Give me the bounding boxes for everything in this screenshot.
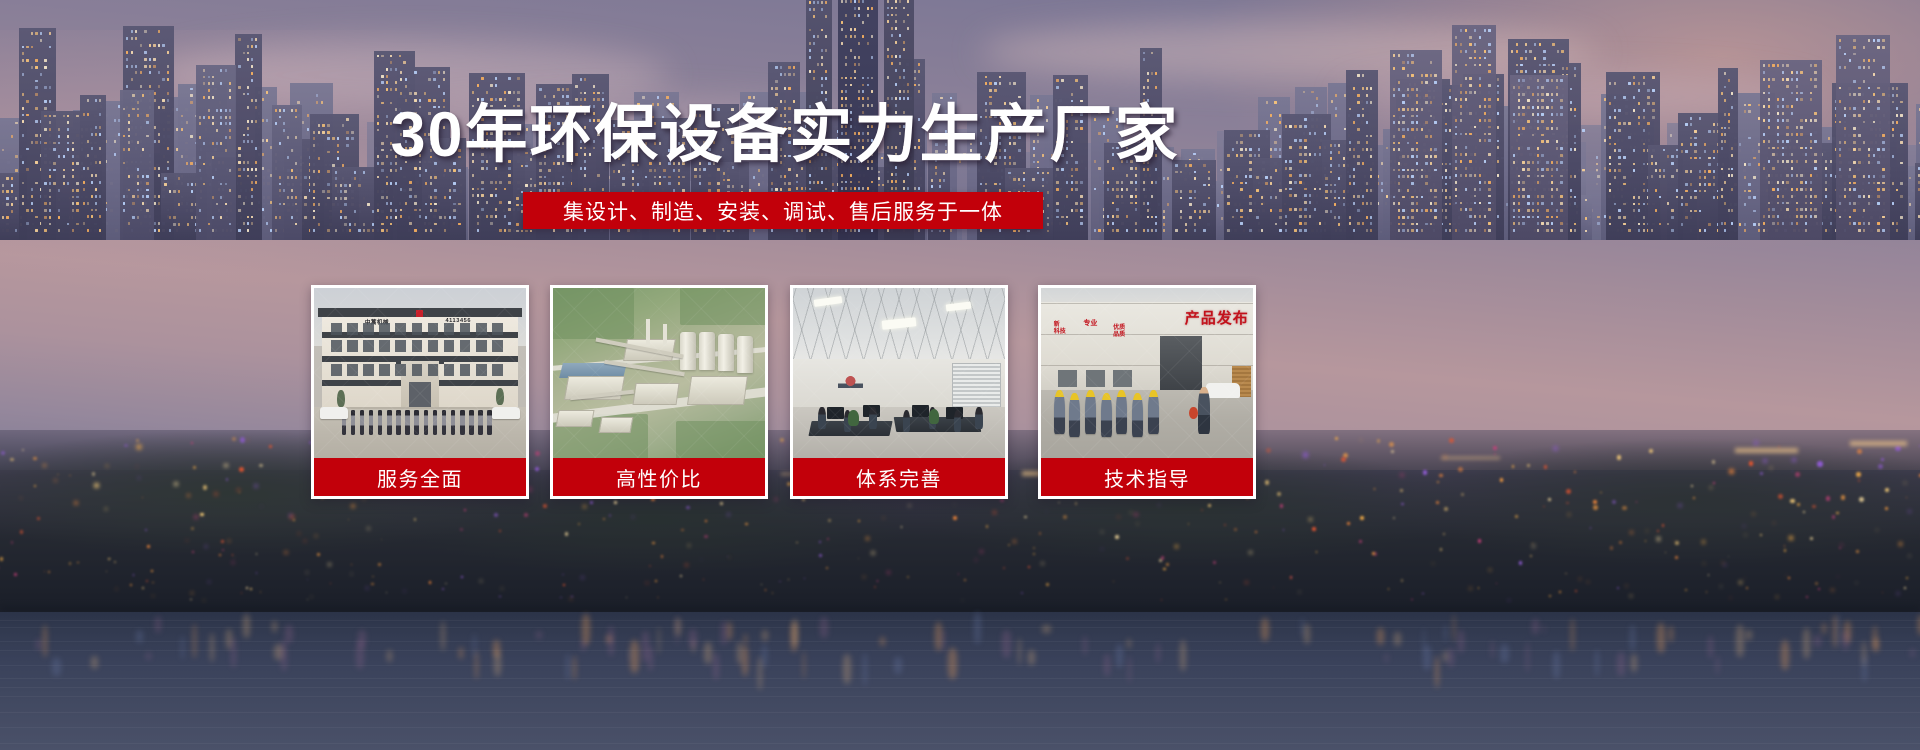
office-person	[818, 407, 825, 429]
card-image-headquarters: 中蒿机械 4113456	[314, 288, 526, 458]
building-window	[412, 340, 423, 352]
building-window	[395, 364, 406, 376]
building-window	[492, 364, 503, 376]
building-window	[444, 340, 455, 352]
staff-person	[351, 410, 355, 436]
office-person	[954, 410, 961, 432]
worker-hardhat	[1132, 393, 1143, 437]
building-window	[395, 323, 406, 335]
building-window	[492, 340, 503, 352]
worker-hardhat	[1101, 393, 1112, 437]
staff-person	[433, 410, 437, 436]
card-label: 体系完善	[856, 463, 942, 492]
card-caption-value: 高性价比	[553, 458, 765, 496]
safety-helmet-held	[1189, 407, 1197, 419]
building-window	[347, 340, 358, 352]
building-window	[428, 364, 439, 376]
card-label: 技术指导	[1104, 463, 1190, 492]
building-window	[476, 323, 487, 335]
card-image-office	[793, 288, 1005, 458]
building-window	[428, 340, 439, 352]
feature-card-service[interactable]: 中蒿机械 4113456 服务全面	[311, 285, 529, 499]
building-window	[379, 364, 390, 376]
building-window	[476, 364, 487, 376]
worker-hardhat	[1054, 390, 1065, 434]
feature-card-guidance[interactable]: 产品发布 新科技 专业 优质品质 技术指导	[1038, 285, 1256, 499]
office-person	[869, 407, 876, 429]
worker-hardhat	[1116, 390, 1127, 434]
building-window	[363, 364, 374, 376]
building-window	[412, 323, 423, 335]
building-window	[347, 323, 358, 335]
building-window	[331, 340, 342, 352]
staff-person	[369, 410, 373, 436]
building-window	[460, 364, 471, 376]
supervisor-person	[1198, 387, 1210, 435]
feature-card-system[interactable]: 体系完善	[790, 285, 1008, 499]
building-window	[492, 323, 503, 335]
building-window	[460, 340, 471, 352]
building-window	[460, 323, 471, 335]
staff-person	[451, 410, 455, 436]
office-person	[903, 410, 910, 432]
worker-hardhat	[1069, 393, 1080, 437]
staff-person	[405, 410, 409, 436]
card-caption-guidance: 技术指导	[1041, 458, 1253, 496]
building-window	[379, 340, 390, 352]
staff-person	[424, 410, 428, 436]
building-window	[331, 364, 342, 376]
feature-card-value[interactable]: 高性价比	[550, 285, 768, 499]
card-caption-system: 体系完善	[793, 458, 1005, 496]
staff-person	[414, 410, 418, 436]
hero-banner: 30年环保设备实力生产厂家 集设计、制造、安装、调试、售后服务于一体	[0, 0, 1920, 750]
building-window	[476, 340, 487, 352]
workshop-slogan-mid: 专业	[1083, 320, 1097, 328]
building-window	[412, 364, 423, 376]
staff-person	[478, 410, 482, 436]
building-window	[379, 323, 390, 335]
staff-person	[387, 410, 391, 436]
card-label: 服务全面	[377, 463, 463, 492]
building-window	[363, 323, 374, 335]
workshop-banner-text: 产品发布	[1185, 307, 1249, 328]
worker-hardhat	[1085, 390, 1096, 434]
staff-person	[378, 410, 382, 436]
building-window	[444, 323, 455, 335]
staff-person	[469, 410, 473, 436]
building-window	[331, 323, 342, 335]
building-window	[428, 323, 439, 335]
card-label: 高性价比	[616, 463, 702, 492]
card-caption-service: 服务全面	[314, 458, 526, 496]
staff-person	[460, 410, 464, 436]
building-window	[395, 340, 406, 352]
staff-person	[396, 410, 400, 436]
building-window	[347, 364, 358, 376]
building-window	[363, 340, 374, 352]
worker-hardhat	[1148, 390, 1159, 434]
card-image-workshop: 产品发布 新科技 专业 优质品质	[1041, 288, 1253, 458]
card-image-plant	[553, 288, 765, 458]
feature-card-list: 中蒿机械 4113456 服务全面	[0, 0, 1920, 750]
staff-person	[360, 410, 364, 436]
building-window	[444, 364, 455, 376]
staff-person	[442, 410, 446, 436]
office-person	[975, 407, 982, 429]
